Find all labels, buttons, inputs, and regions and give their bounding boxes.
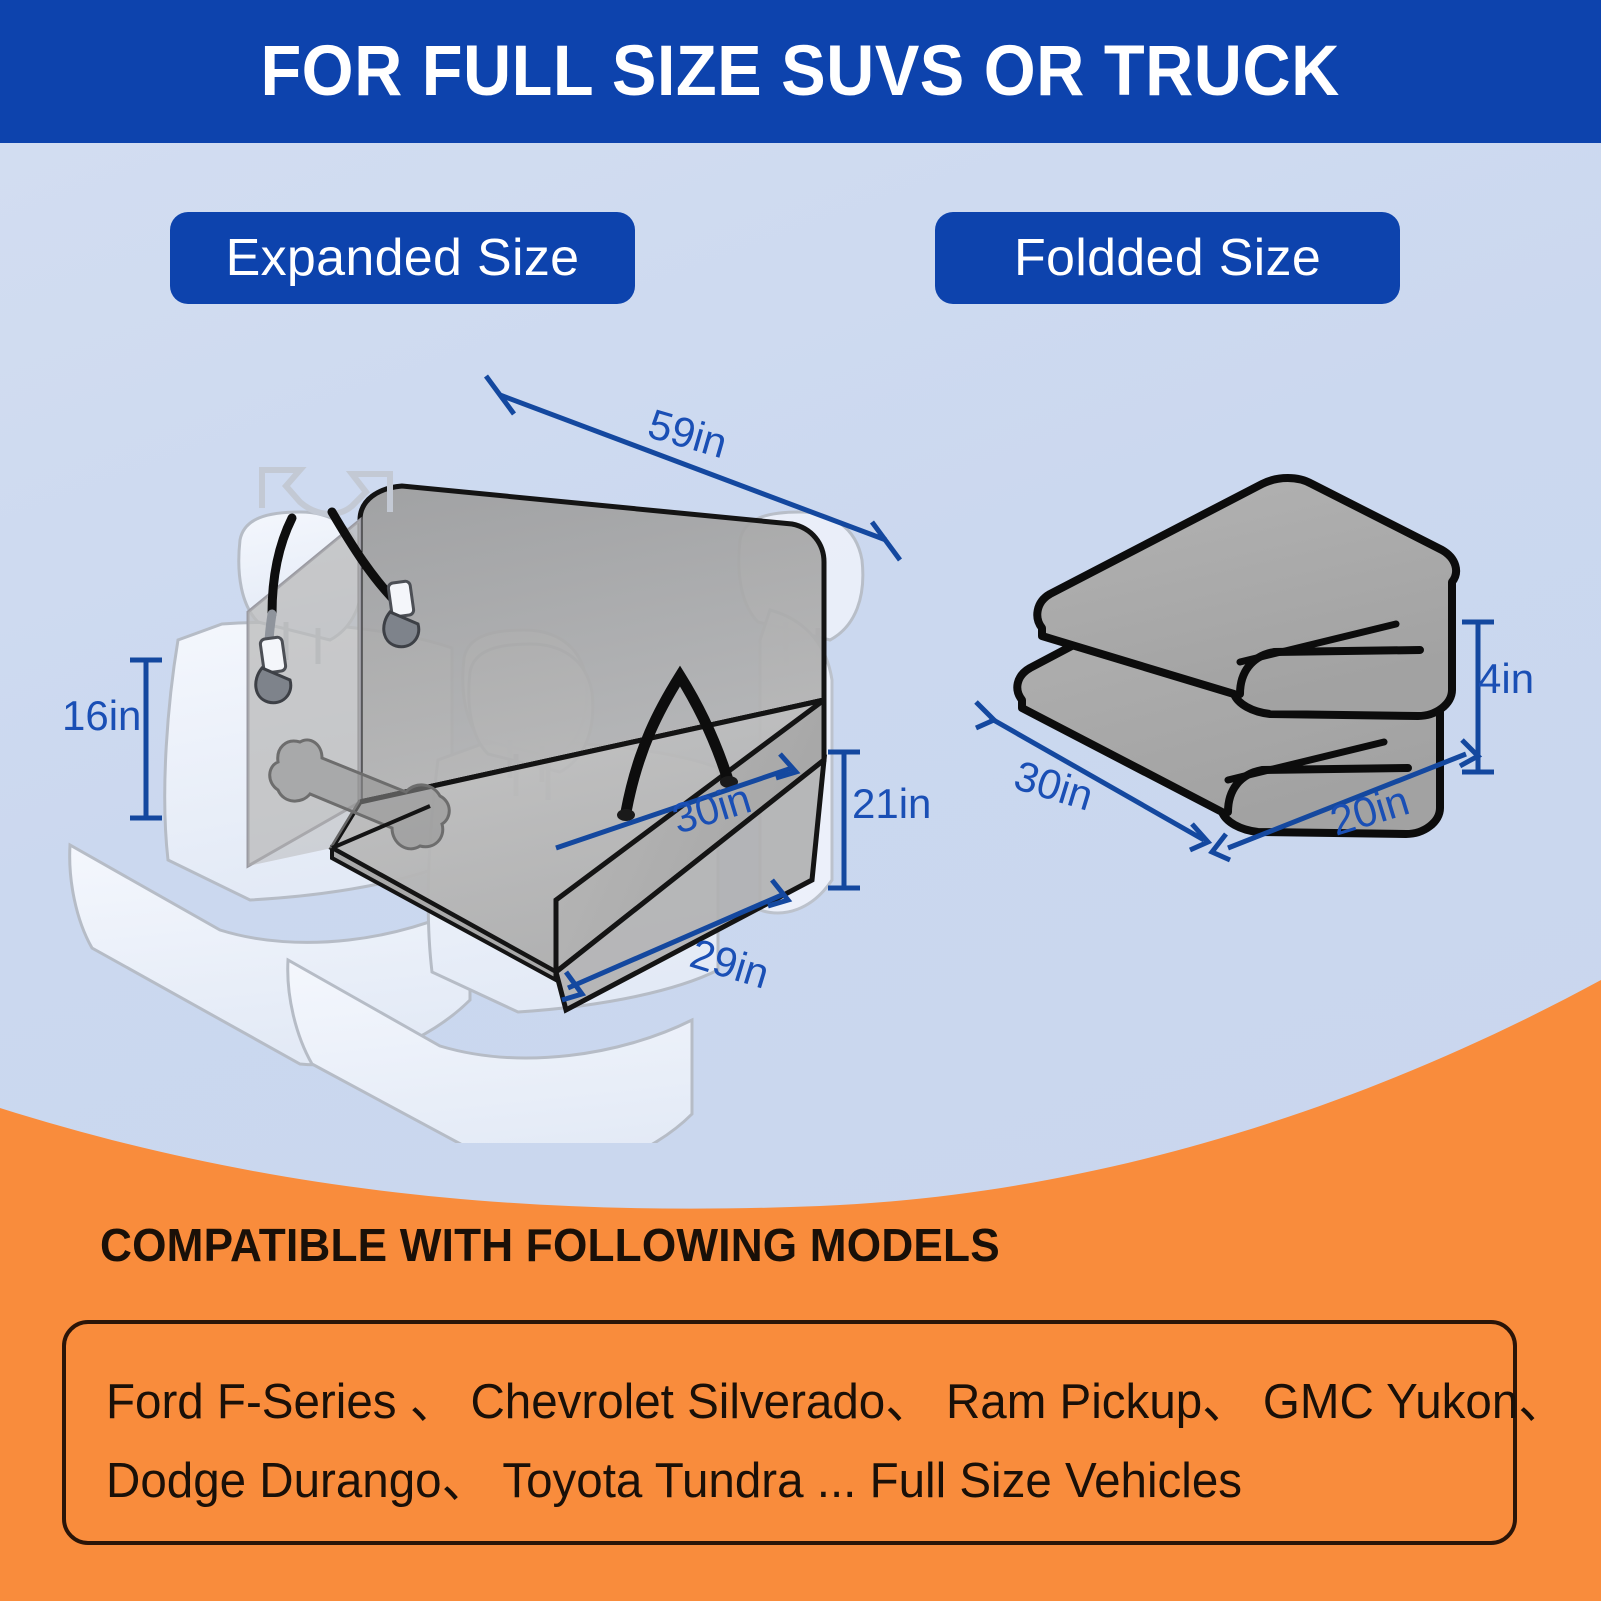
compatible-models-line-2: Dodge Durango、 Toyota Tundra ... Full Si… (106, 1441, 1242, 1512)
product-infographic: FOR FULL SIZE SUVS OR TRUCK Expanded Siz… (0, 0, 1601, 1601)
badge-expanded-size: Expanded Size (170, 212, 635, 304)
compatible-models-line-1: Ford F-Series 、 Chevrolet Silverado、 Ram… (106, 1362, 1566, 1433)
compatibility-heading: COMPATIBLE WITH FOLLOWING MODELS (100, 1218, 1000, 1272)
dimension-label-16in: 16in (62, 692, 141, 740)
header-banner: FOR FULL SIZE SUVS OR TRUCK (0, 0, 1601, 143)
badge-folded-size: Foldded Size (935, 212, 1400, 304)
dimension-label-folded-4in: 4in (1478, 655, 1534, 703)
dimension-label-21in: 21in (852, 780, 931, 828)
illustration-background (0, 143, 1601, 1243)
page-title: FOR FULL SIZE SUVS OR TRUCK (261, 31, 1340, 112)
compatible-models-box: Ford F-Series 、 Chevrolet Silverado、 Ram… (62, 1320, 1517, 1545)
